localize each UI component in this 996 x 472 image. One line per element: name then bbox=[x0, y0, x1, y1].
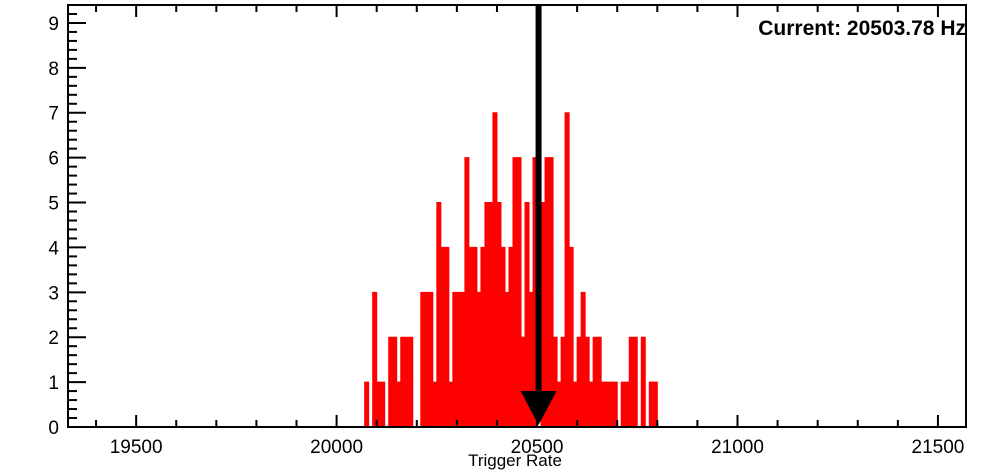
y-tick-label: 3 bbox=[48, 283, 59, 304]
y-tick-label: 8 bbox=[48, 59, 59, 80]
histogram-plot: 1950020000205002100021500 0123456789 Tri… bbox=[0, 0, 996, 472]
x-tick-label: 21500 bbox=[912, 437, 965, 458]
x-axis-title-text: Trigger Rate bbox=[468, 451, 562, 470]
x-tick-label: 20000 bbox=[310, 437, 363, 458]
x-axis-title: Trigger Rate bbox=[468, 451, 562, 470]
y-tick-label: 6 bbox=[48, 149, 59, 170]
y-tick-label: 4 bbox=[48, 238, 59, 259]
root-canvas: 1950020000205002100021500 0123456789 Tri… bbox=[0, 0, 996, 472]
y-tick-label: 2 bbox=[48, 328, 59, 349]
y-tick-label: 9 bbox=[48, 14, 59, 35]
y-tick-label: 5 bbox=[48, 194, 59, 215]
current-rate-readout: Current: 20503.78 Hz bbox=[758, 17, 966, 41]
x-tick-label: 21000 bbox=[711, 437, 764, 458]
y-tick-label: 1 bbox=[48, 373, 59, 394]
y-tick-label: 7 bbox=[48, 104, 59, 125]
x-tick-label: 19500 bbox=[110, 437, 163, 458]
y-tick-label: 0 bbox=[48, 418, 59, 439]
